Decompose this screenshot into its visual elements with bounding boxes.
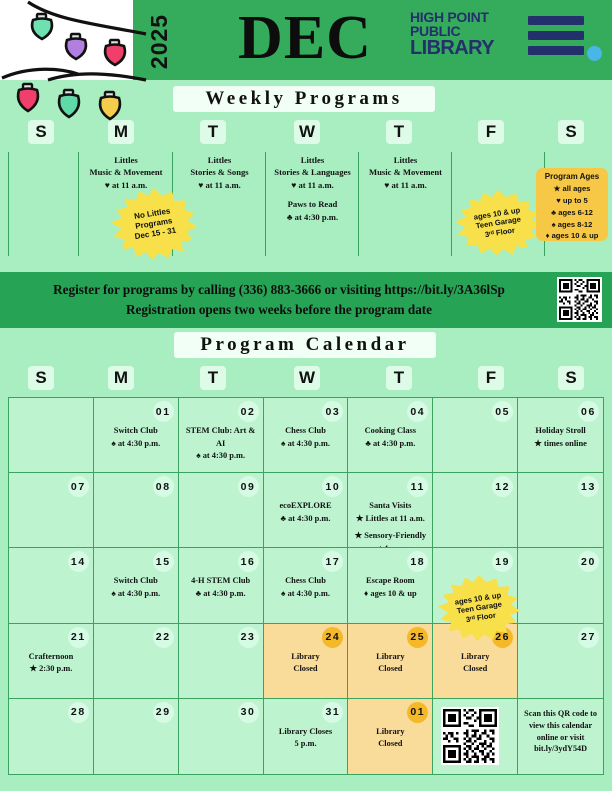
calendar-day-cell[interactable]: 31Library Closes5 p.m. xyxy=(264,699,349,774)
logo-line-3: LIBRARY xyxy=(410,38,528,58)
calendar-day-number: 06 xyxy=(578,401,599,422)
calendar-event-line: Closed xyxy=(350,663,430,676)
logo-wordmark: HIGH POINT PUBLIC LIBRARY xyxy=(410,10,528,68)
weekly-entry-line: Music & Movement xyxy=(79,166,173,178)
calendar-day-cell: 09 xyxy=(179,473,264,548)
calendar-day-cell[interactable]: 01LibraryClosed xyxy=(348,699,433,774)
calendar-day-cell: 20 xyxy=(518,548,603,623)
calendar-day-number: 28 xyxy=(68,702,89,723)
calendar-day-cell[interactable]: 01Switch Club♠ at 4:30 p.m. xyxy=(94,398,179,473)
weekly-day-header-1: M xyxy=(108,120,134,144)
calendar-scan-instructions: Scan this QR code to view this calendar … xyxy=(520,708,601,756)
weekly-day-header-0: S xyxy=(28,120,54,144)
calendar-event-line: ♠ at 4:30 p.m. xyxy=(266,438,346,451)
calendar-day-cell[interactable]: 10ecoEXPLORE♣ at 4:30 p.m. xyxy=(264,473,349,548)
calendar-day-cell: 12 xyxy=(433,473,518,548)
calendar-day-header-5: F xyxy=(478,366,504,390)
calendar-event-line: ♣ at 4:30 p.m. xyxy=(266,513,346,526)
calendar-event-line: 5 p.m. xyxy=(266,738,346,751)
calendar-day-number: 21 xyxy=(68,627,89,648)
weekly-day-header-6: S xyxy=(558,120,584,144)
calendar-event-line: STEM Club: Art & AI xyxy=(181,425,261,450)
weekly-entry-line: Stories & Languages xyxy=(266,166,359,178)
program-calendar-title: Program Calendar xyxy=(174,332,436,358)
program-ages-item-0: ★ all ages xyxy=(536,183,608,195)
logo-dot-icon xyxy=(587,46,602,61)
calendar-day-events: Crafternoon★ 2:30 p.m. xyxy=(11,651,91,676)
calendar-event-line: Library xyxy=(350,651,430,664)
weekly-column-3: LittlesStories & Languages♥ at 11 a.m.Pa… xyxy=(265,152,359,256)
calendar-event-line: ★ Sensory-Friendly xyxy=(350,530,430,543)
program-ages-item-2: ♣ ages 6-12 xyxy=(536,207,608,219)
calendar-event-line: Closed xyxy=(266,663,346,676)
calendar-day-number: 23 xyxy=(238,627,259,648)
calendar-day-number: 18 xyxy=(407,551,428,572)
calendar-day-cell[interactable]: 03Chess Club♠ at 4:30 p.m. xyxy=(264,398,349,473)
calendar-day-number: 29 xyxy=(153,702,174,723)
calendar-event-line: ♠ at 4:30 p.m. xyxy=(96,438,176,451)
weekly-column-body-3: LittlesStories & Languages♥ at 11 a.m.Pa… xyxy=(266,154,359,223)
calendar-flyer: 2025 DEC HIGH POINT PUBLIC LIBRARY Weekl… xyxy=(0,0,612,791)
calendar-day-number: 17 xyxy=(322,551,343,572)
weekly-column-0 xyxy=(8,152,79,256)
year-label: 2025 xyxy=(140,6,180,76)
calendar-day-events: Holiday Stroll★ times online xyxy=(520,425,601,450)
calendar-event-line: ♠ at 4:30 p.m. xyxy=(181,450,261,463)
registration-line-2: Registration opens two weeks before the … xyxy=(126,300,432,320)
weekly-column-4: LittlesMusic & Movement♥ at 11 a.m. xyxy=(358,152,452,256)
calendar-day-number: 02 xyxy=(238,401,259,422)
program-ages-item-3: ♠ ages 8-12 xyxy=(536,219,608,231)
calendar-grid: 01Switch Club♠ at 4:30 p.m.02STEM Club: … xyxy=(8,397,604,775)
weekly-entry-line: Littles xyxy=(266,154,359,166)
calendar-day-cell[interactable]: 11Santa Visits★ Littles at 11 a.m.★ Sens… xyxy=(348,473,433,548)
weekly-entry-line: ♥ at 11 a.m. xyxy=(173,179,266,191)
registration-text: Register for programs by calling (336) 8… xyxy=(6,276,552,324)
weekly-entry-line: ♣ at 4:30 p.m. xyxy=(266,211,359,223)
calendar-day-events: Switch Club♠ at 4:30 p.m. xyxy=(96,575,176,600)
calendar-day-events: ecoEXPLORE♣ at 4:30 p.m. xyxy=(266,500,346,525)
calendar-day-number: 07 xyxy=(68,476,89,497)
calendar-day-cell[interactable]: 164-H STEM Club♣ at 4:30 p.m. xyxy=(179,548,264,623)
calendar-day-events: LibraryClosed xyxy=(350,651,430,676)
calendar-event-line: ♠ at 4:30 p.m. xyxy=(266,588,346,601)
calendar-event-line: Library xyxy=(350,726,430,739)
weekly-entry-line: Paws to Read xyxy=(266,198,359,210)
calendar-day-number: 15 xyxy=(153,551,174,572)
calendar-day-events: Library Closes5 p.m. xyxy=(266,726,346,751)
calendar-day-events: LibraryClosed xyxy=(435,651,515,676)
calendar-day-number: 16 xyxy=(238,551,259,572)
calendar-day-cell: 27 xyxy=(518,624,603,699)
weekly-entry-line: ♥ at 11 a.m. xyxy=(266,179,359,191)
weekly-column-body-2: LittlesStories & Songs♥ at 11 a.m. xyxy=(173,154,266,191)
weekly-day-header-3: W xyxy=(294,120,320,144)
weekly-entry-line: ♥ at 11 a.m. xyxy=(359,179,452,191)
program-ages-item-1: ♥ up to 5 xyxy=(536,195,608,207)
weekly-programs-title: Weekly Programs xyxy=(173,86,435,112)
calendar-day-cell[interactable]: 18Escape Room♦ ages 10 & up xyxy=(348,548,433,623)
program-ages-title: Program Ages xyxy=(536,171,608,183)
calendar-day-cell: 07 xyxy=(9,473,94,548)
calendar-day-cell: 05 xyxy=(433,398,518,473)
calendar-day-number: 10 xyxy=(322,476,343,497)
calendar-event-line: ecoEXPLORE xyxy=(266,500,346,513)
calendar-event-line: ♦ ages 10 & up xyxy=(350,588,430,601)
calendar-day-number: 03 xyxy=(322,401,343,422)
calendar-day-cell: 14 xyxy=(9,548,94,623)
calendar-day-number: 04 xyxy=(407,401,428,422)
library-logo: HIGH POINT PUBLIC LIBRARY xyxy=(410,10,600,70)
calendar-event-line: Switch Club xyxy=(96,575,176,588)
calendar-day-header-6: S xyxy=(558,366,584,390)
weekly-day-header-4: T xyxy=(386,120,412,144)
calendar-day-header-2: T xyxy=(200,366,226,390)
calendar-day-events: Chess Club♠ at 4:30 p.m. xyxy=(266,425,346,450)
calendar-scan-cell: Scan this QR code to view this calendar … xyxy=(518,699,603,774)
calendar-day-cell[interactable]: 06Holiday Stroll★ times online xyxy=(518,398,603,473)
calendar-day-number: 05 xyxy=(492,401,513,422)
qr-code-icon xyxy=(559,279,600,320)
calendar-day-number: 19 xyxy=(492,551,513,572)
calendar-day-number: 01 xyxy=(153,401,174,422)
weekly-day-header-2: T xyxy=(200,120,226,144)
registration-line-1: Register for programs by calling (336) 8… xyxy=(53,280,505,300)
calendar-day-cell[interactable]: 24LibraryClosed xyxy=(264,624,349,699)
calendar-event-line: 4-H STEM Club xyxy=(181,575,261,588)
year-text: 2025 xyxy=(147,13,174,68)
weekly-day-header-5: F xyxy=(478,120,504,144)
calendar-day-events: Switch Club♠ at 4:30 p.m. xyxy=(96,425,176,450)
calendar-day-events: Cooking Class♣ at 4:30 p.m. xyxy=(350,425,430,450)
calendar-day-events: Escape Room♦ ages 10 & up xyxy=(350,575,430,600)
qr-code-icon xyxy=(443,709,497,763)
calendar-day-number: 12 xyxy=(492,476,513,497)
calendar-day-number: 20 xyxy=(578,551,599,572)
calendar-day-events: LibraryClosed xyxy=(266,651,346,676)
calendar-event-line: ♣ at 4:30 p.m. xyxy=(181,588,261,601)
calendar-day-number: 31 xyxy=(322,702,343,723)
calendar-day-number: 14 xyxy=(68,551,89,572)
weekly-day-header-row: SMTWTFS xyxy=(0,120,612,144)
calendar-day-cell: 22 xyxy=(94,624,179,699)
calendar-event-line: Crafternoon xyxy=(11,651,91,664)
registration-qr-code[interactable] xyxy=(557,277,602,322)
calendar-event-line: ♠ at 4:30 p.m. xyxy=(96,588,176,601)
calendar-event-line: Cooking Class xyxy=(350,425,430,438)
calendar-event-line: Closed xyxy=(435,663,515,676)
calendar-day-number: 30 xyxy=(238,702,259,723)
calendar-day-cell[interactable]: 21Crafternoon★ 2:30 p.m. xyxy=(9,624,94,699)
calendar-day-number: 25 xyxy=(407,627,428,648)
calendar-event-line: Chess Club xyxy=(266,575,346,588)
calendar-day-header-4: T xyxy=(386,366,412,390)
calendar-day-cell[interactable]: 25LibraryClosed xyxy=(348,624,433,699)
program-ages-item-4: ♦ ages 10 & up xyxy=(536,230,608,242)
calendar-day-number: 24 xyxy=(322,627,343,648)
calendar-day-cell[interactable]: 02STEM Club: Art & AI♠ at 4:30 p.m. xyxy=(179,398,264,473)
calendar-day-cell: 13 xyxy=(518,473,603,548)
program-ages-items: ★ all ages♥ up to 5♣ ages 6-12♠ ages 8-1… xyxy=(536,183,608,242)
weekly-column-body-1: LittlesMusic & Movement♥ at 11 a.m. xyxy=(79,154,173,191)
calendar-day-number: 27 xyxy=(578,627,599,648)
calendar-day-cell[interactable]: 15Switch Club♠ at 4:30 p.m. xyxy=(94,548,179,623)
calendar-day-cell[interactable]: 04Cooking Class♣ at 4:30 p.m. xyxy=(348,398,433,473)
logo-bars-icon xyxy=(528,16,584,61)
calendar-event-line: ★ times online xyxy=(520,438,601,451)
calendar-day-number: 08 xyxy=(153,476,174,497)
calendar-day-events: LibraryClosed xyxy=(350,726,430,751)
weekly-entry-line: Littles xyxy=(79,154,173,166)
calendar-event-line: ★ Littles at 11 a.m. xyxy=(350,513,430,526)
calendar-qr-code[interactable] xyxy=(441,707,499,765)
weekly-entry-line: Littles xyxy=(359,154,452,166)
weekly-entry-line: ♥ at 11 a.m. xyxy=(79,179,173,191)
calendar-event-line: Escape Room xyxy=(350,575,430,588)
calendar-event-line: ♣ at 4:30 p.m. xyxy=(350,438,430,451)
calendar-event-line: Library Closes xyxy=(266,726,346,739)
calendar-event-line: ★ 2:30 p.m. xyxy=(11,663,91,676)
calendar-day-cell xyxy=(9,398,94,473)
program-ages-legend: Program Ages ★ all ages♥ up to 5♣ ages 6… xyxy=(536,168,608,241)
calendar-day-header-0: S xyxy=(28,366,54,390)
calendar-day-events: STEM Club: Art & AI♠ at 4:30 p.m. xyxy=(181,425,261,463)
calendar-event-line: Holiday Stroll xyxy=(520,425,601,438)
logo-line-1: HIGH POINT xyxy=(410,10,528,24)
calendar-day-cell: 23 xyxy=(179,624,264,699)
calendar-qr-cell[interactable] xyxy=(433,699,518,774)
calendar-day-cell: 08 xyxy=(94,473,179,548)
calendar-day-cell: 30 xyxy=(179,699,264,774)
weekly-entry-line: Music & Movement xyxy=(359,166,452,178)
calendar-day-cell: 28 xyxy=(9,699,94,774)
calendar-day-number: 09 xyxy=(238,476,259,497)
calendar-day-cell[interactable]: 17Chess Club♠ at 4:30 p.m. xyxy=(264,548,349,623)
calendar-event-line: Chess Club xyxy=(266,425,346,438)
calendar-event-line: Closed xyxy=(350,738,430,751)
weekly-entry-line: Stories & Songs xyxy=(173,166,266,178)
calendar-day-header-row: SMTWTFS xyxy=(0,366,612,390)
calendar-day-number: 11 xyxy=(407,476,428,497)
calendar-day-events: Santa Visits★ Littles at 11 a.m.★ Sensor… xyxy=(350,500,430,548)
logo-line-2: PUBLIC xyxy=(410,24,528,38)
calendar-day-events: 4-H STEM Club♣ at 4:30 p.m. xyxy=(181,575,261,600)
calendar-event-line: Library xyxy=(435,651,515,664)
calendar-day-number: 13 xyxy=(578,476,599,497)
calendar-event-line: Santa Visits xyxy=(350,500,430,513)
weekly-entry-line: Littles xyxy=(173,154,266,166)
calendar-day-number: 22 xyxy=(153,627,174,648)
weekly-column-body-4: LittlesMusic & Movement♥ at 11 a.m. xyxy=(359,154,452,191)
calendar-event-line: Switch Club xyxy=(96,425,176,438)
calendar-day-events: Chess Club♠ at 4:30 p.m. xyxy=(266,575,346,600)
calendar-day-header-3: W xyxy=(294,366,320,390)
calendar-day-cell: 29 xyxy=(94,699,179,774)
month-title: DEC xyxy=(225,0,385,78)
calendar-day-header-1: M xyxy=(108,366,134,390)
calendar-day-number: 01 xyxy=(407,702,428,723)
calendar-event-line: Library xyxy=(266,651,346,664)
